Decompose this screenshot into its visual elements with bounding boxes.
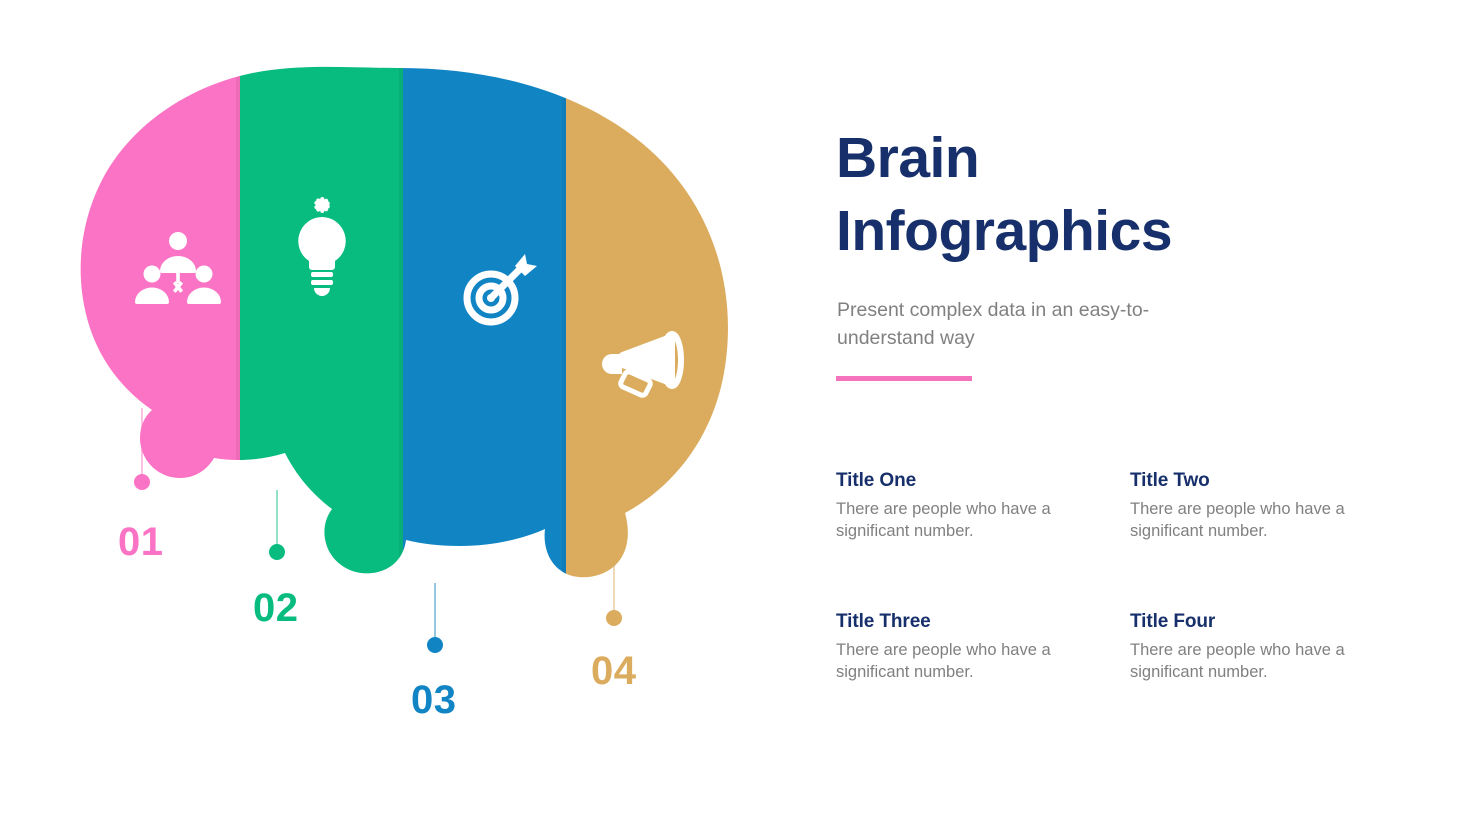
brain-segment-02 (240, 0, 403, 821)
detail-body-two: There are people who have a significant … (1130, 499, 1410, 543)
detail-body-one: There are people who have a significant … (836, 499, 1116, 543)
connector-dot-03 (427, 637, 443, 653)
detail-body-three: There are people who have a significant … (836, 640, 1116, 684)
detail-title-one: Title One (836, 470, 1116, 492)
segment-divider-2 (399, 0, 403, 821)
brain-diagram (0, 0, 790, 821)
page-subtitle: Present complex data in an easy-to-under… (837, 297, 1207, 352)
brain-segment-01 (0, 0, 240, 821)
detail-item-one: Title One There are people who have a si… (836, 470, 1116, 543)
page-title: BrainInfographics (836, 122, 1256, 268)
connector-02 (269, 490, 285, 560)
page-title-line-2: Infographics (836, 199, 1172, 263)
detail-title-two: Title Two (1130, 470, 1410, 492)
connector-dot-01 (134, 474, 150, 490)
connector-dot-02 (269, 544, 285, 560)
detail-item-two: Title Two There are people who have a si… (1130, 470, 1410, 543)
connector-03 (427, 583, 443, 653)
segment-divider-1 (236, 0, 240, 821)
detail-body-four: There are people who have a significant … (1130, 640, 1410, 684)
step-number-02: 02 (253, 588, 299, 628)
accent-divider-bar (836, 376, 972, 381)
detail-title-four: Title Four (1130, 611, 1410, 633)
page-title-line-1: Brain (836, 126, 979, 190)
brain-color-segments (0, 0, 790, 821)
step-number-03: 03 (411, 680, 457, 720)
step-number-01: 01 (118, 522, 164, 562)
detail-title-three: Title Three (836, 611, 1116, 633)
step-number-04: 04 (591, 651, 637, 691)
brain-segment-04 (566, 0, 790, 821)
connector-dot-04 (606, 610, 622, 626)
content-panel: BrainInfographics Present complex data i… (836, 0, 1436, 821)
detail-item-three: Title Three There are people who have a … (836, 611, 1116, 684)
brain-infographic-figure: 01 02 03 04 (0, 0, 790, 821)
segment-divider-3 (562, 0, 566, 821)
detail-item-four: Title Four There are people who have a s… (1130, 611, 1410, 684)
